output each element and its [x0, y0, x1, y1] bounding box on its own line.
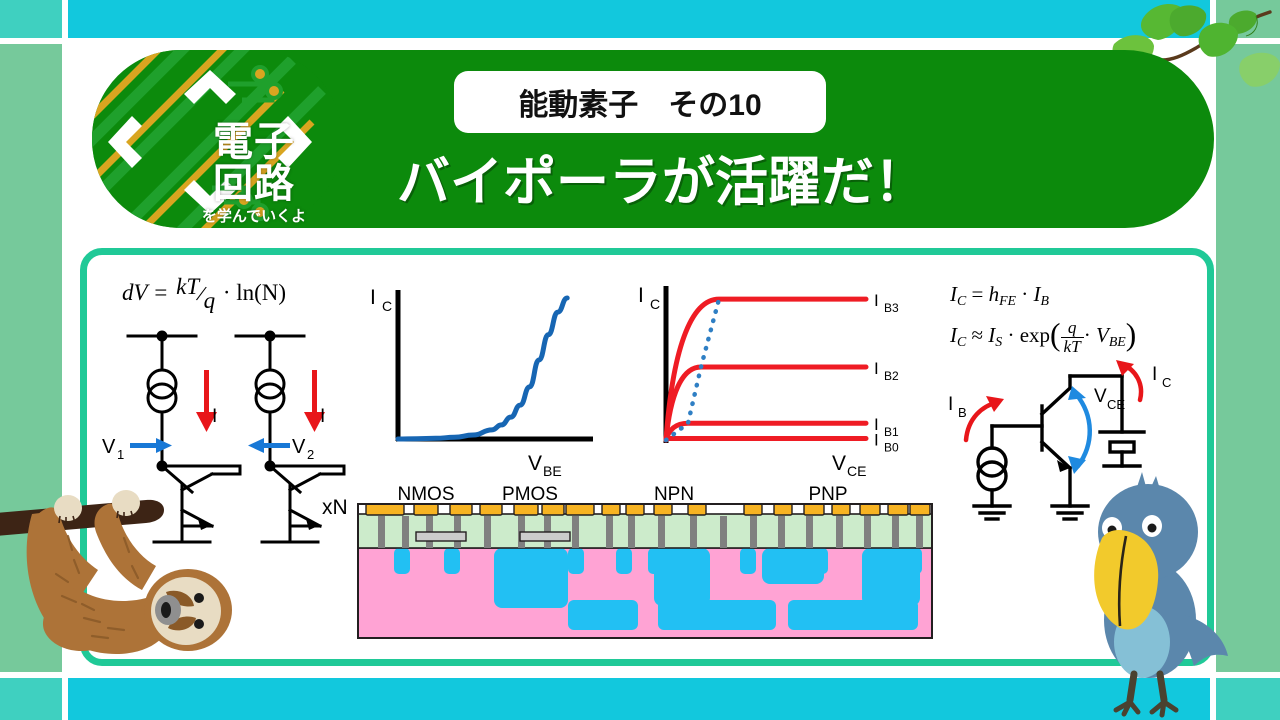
series-group	[666, 299, 866, 440]
sloth-character	[0, 478, 246, 683]
label-v1: V	[102, 436, 116, 458]
f2-dot2: ·	[1084, 323, 1091, 347]
f1-dot: ·	[1021, 282, 1028, 306]
formula-ic-hfe: IC = hFE · IB	[950, 282, 1049, 309]
formula-dv-eq: =	[153, 280, 169, 305]
chart-ic-vbe: I C V BE	[368, 278, 608, 478]
f1-eq: =	[972, 282, 984, 306]
chart-ic-vce: I C V CE IB3IB2IB1IB0	[634, 278, 914, 478]
label-ic-sub: C	[1162, 375, 1171, 390]
formula-dv-rest: · ln(N)	[223, 280, 286, 305]
label-ic: I	[1152, 364, 1157, 385]
corner-block-top-left	[0, 0, 62, 38]
y-axis-label: I	[638, 284, 644, 307]
label-v2: V	[292, 436, 306, 458]
label-ib: I	[948, 394, 953, 415]
f1-ib-sub: B	[1041, 293, 1049, 308]
f1-lhs-sub: C	[957, 293, 966, 308]
f2-approx: ≈	[972, 323, 984, 347]
series-label-sub-I_B3: B3	[884, 301, 899, 315]
y-axis-label-sub: C	[650, 296, 660, 312]
series-label-I_B0: I	[874, 431, 879, 450]
cross-section-label-pnp: PNP	[808, 484, 847, 505]
f2-frac-num: q	[1061, 319, 1084, 338]
f2-lhs-sub: C	[957, 334, 966, 349]
f2-exp: exp	[1020, 323, 1050, 347]
header-banner: 電子 回路 を学んでいくよ 能動素子 その10 バイポーラが活躍だ！	[92, 50, 1214, 228]
f2-vbe: V	[1096, 323, 1109, 347]
f2-lhs: I	[950, 323, 957, 347]
subtitle-text: 能動素子 その10	[518, 80, 761, 124]
series-labels: IB3IB2IB1IB0	[874, 291, 899, 454]
series-label-sub-I_B0: B0	[884, 441, 899, 455]
series-I_B2	[666, 367, 866, 440]
shoebill-character	[1076, 470, 1236, 720]
formula-dv-lhs: dV	[122, 280, 147, 305]
label-current-right: I	[320, 406, 325, 427]
f1-hfe: h	[989, 282, 1000, 306]
x-axis-label-sub: BE	[543, 463, 562, 479]
cross-section-label-nmos: NMOS	[398, 484, 455, 505]
y-axis-label: I	[370, 286, 376, 309]
formula-dv-den: q	[204, 288, 216, 313]
label-multiplier: xN	[322, 496, 348, 519]
formula-ic-exp: IC ≈ IS · exp( q kT · VBE)	[950, 314, 1136, 356]
y-axis-label-sub: C	[382, 298, 392, 314]
f2-vbe-sub: BE	[1109, 334, 1126, 349]
cross-section-svg: NMOSPMOSNPNPNP	[358, 492, 932, 644]
formula-dv-fraction: kT/q	[174, 281, 217, 307]
subtitle-pill: 能動素子 その10	[454, 71, 826, 133]
oxide-layer	[358, 514, 932, 548]
series-label-I_B3: I	[874, 291, 879, 310]
f2-is-sub: S	[995, 334, 1002, 349]
formula-dv: dV = kT/q · ln(N)	[122, 280, 286, 308]
x-axis-label: V	[832, 452, 846, 475]
chart-ic-vce-svg: I C V CE IB3IB2IB1IB0	[634, 278, 914, 478]
cross-section-diagram: NMOSPMOSNPNPNP	[358, 492, 932, 644]
band-top	[68, 0, 1210, 38]
f1-ib: I	[1034, 282, 1041, 306]
f1-lhs: I	[950, 282, 957, 306]
page-title: バイポーラが活躍だ！	[282, 138, 1042, 218]
series-label-I_B2: I	[874, 359, 879, 378]
label-ib-sub: B	[958, 405, 967, 420]
x-axis-label: V	[528, 452, 542, 475]
chart-ic-vbe-svg: I C V BE	[368, 278, 608, 478]
x-axis-label-sub: CE	[847, 463, 866, 479]
f1-hfe-sub: FE	[999, 293, 1016, 308]
band-bottom	[68, 678, 1210, 720]
cross-section-label-npn: NPN	[654, 484, 694, 505]
label-v1-sub: 1	[117, 447, 124, 462]
series-label-sub-I_B2: B2	[884, 369, 899, 383]
label-vce: V	[1094, 386, 1107, 407]
f2-dot: ·	[1007, 323, 1014, 347]
series-label-sub-I_B1: B1	[884, 425, 899, 439]
series-ic-exponential	[398, 298, 567, 439]
label-v2-sub: 2	[307, 447, 314, 462]
corner-block-bottom-left	[0, 678, 62, 720]
label-vce-sub: CE	[1107, 397, 1125, 412]
cross-section-label-pmos: PMOS	[502, 484, 558, 505]
label-current-left: I	[212, 406, 217, 427]
